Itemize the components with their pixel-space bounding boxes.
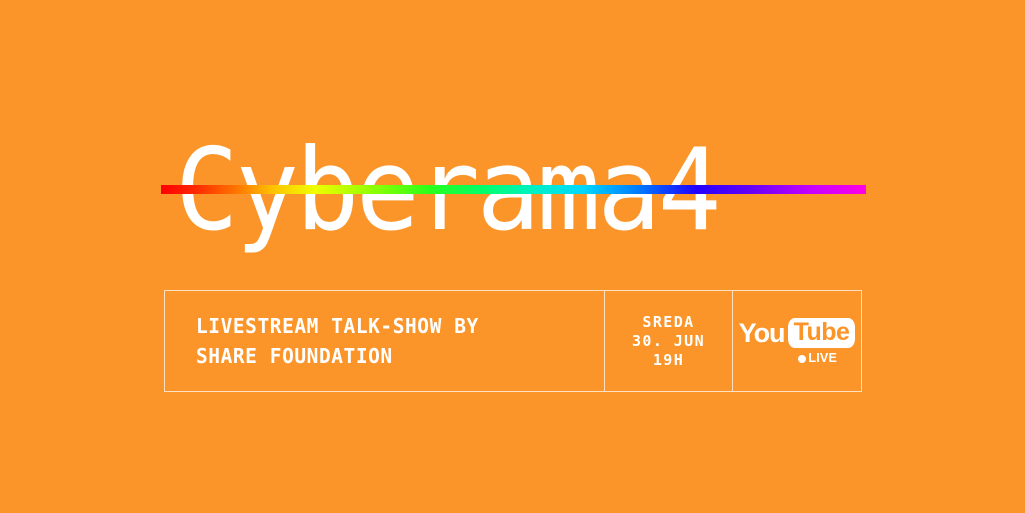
event-headline: LIVESTREAM TALK-SHOW BY SHARE FOUNDATION (196, 311, 479, 371)
live-label: LIVE (808, 352, 837, 365)
event-day-name: SREDA (632, 313, 705, 332)
youtube-live-badge: LIVE (749, 352, 845, 365)
live-dot-icon (798, 355, 806, 363)
youtube-wordmark: You Tube (739, 317, 856, 349)
youtube-tube-text: Tube (794, 319, 850, 346)
poster-canvas: Cyberama4 LIVESTREAM TALK-SHOW BY SHARE … (0, 0, 1025, 513)
event-time: 19H (632, 351, 705, 370)
rainbow-rule-divider (161, 185, 866, 194)
info-cell-date: SREDA 30. JUN 19H (604, 291, 732, 391)
youtube-you-text: You (739, 318, 785, 348)
youtube-tube-box-icon: Tube (788, 318, 856, 348)
title-block: Cyberama4 (161, 120, 871, 260)
event-date: 30. JUN (632, 332, 705, 351)
info-bar: LIVESTREAM TALK-SHOW BY SHARE FOUNDATION… (164, 290, 862, 392)
event-date-stack: SREDA 30. JUN 19H (632, 313, 705, 370)
info-cell-logo[interactable]: You Tube LIVE (732, 291, 861, 391)
info-cell-headline: LIVESTREAM TALK-SHOW BY SHARE FOUNDATION (165, 291, 604, 391)
youtube-live-logo[interactable]: You Tube LIVE (749, 317, 845, 365)
